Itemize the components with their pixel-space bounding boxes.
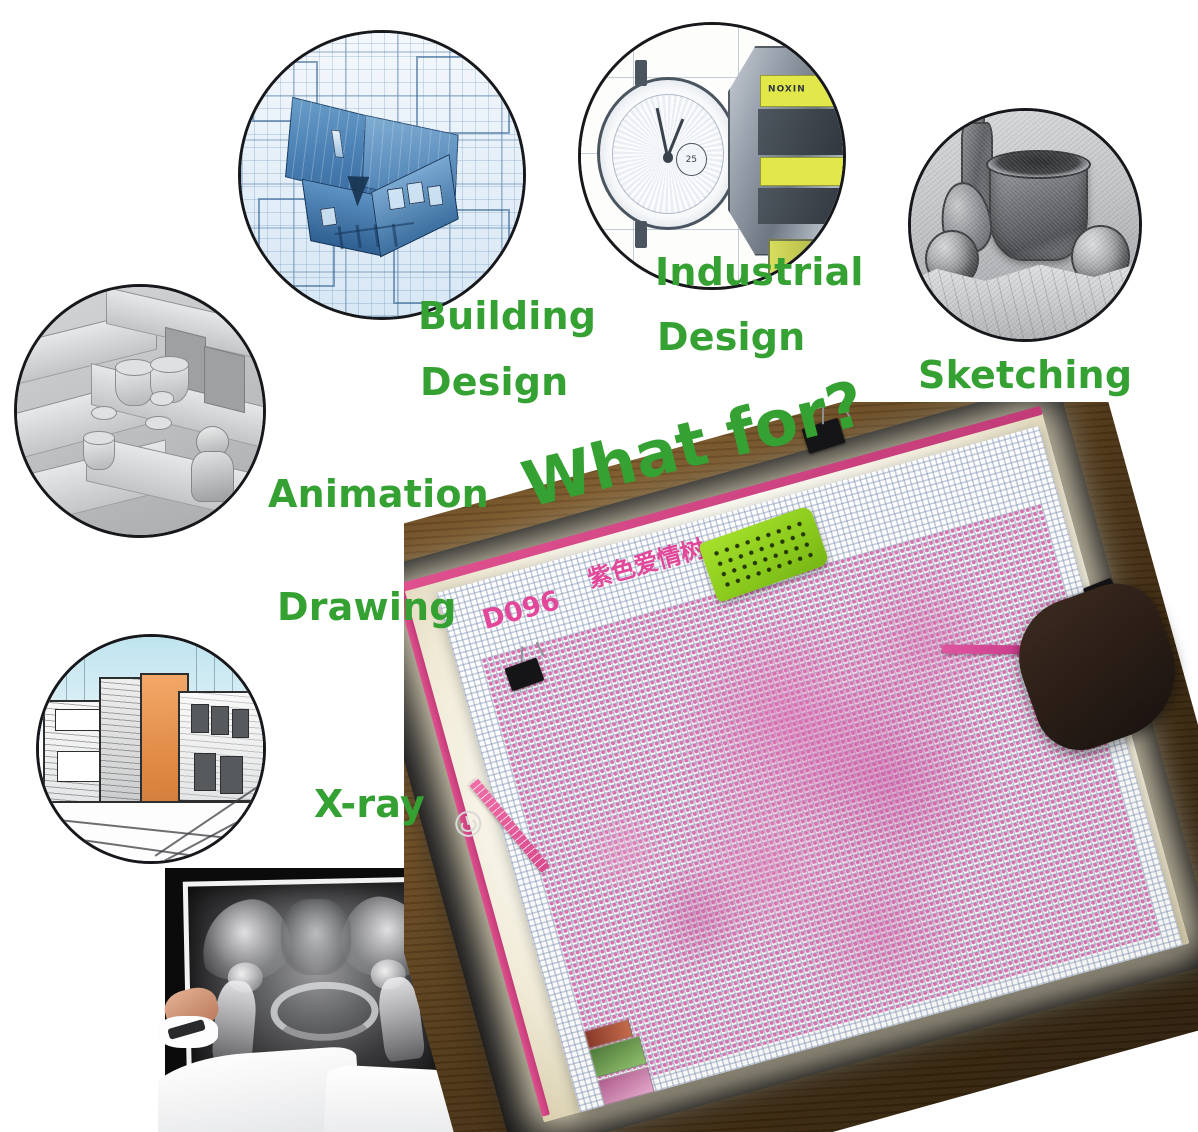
use-case-label-x-ray: X-ray — [314, 785, 425, 823]
product-photo-light-pad: D096 紫色爱情树 — [404, 402, 1198, 1132]
use-case-label-sketching: Sketching — [918, 356, 1132, 394]
use-case-photo-animation — [14, 284, 266, 538]
use-case-label-building-design-line1: Building — [418, 297, 596, 335]
use-case-label-industrial-design-line2: Design — [657, 318, 805, 356]
use-case-photo-drawing — [36, 634, 266, 864]
watch-date-window: 25 — [676, 143, 707, 176]
promo-image: 25 NIXON — [0, 0, 1198, 1132]
use-case-label-building-design-line2: Design — [420, 363, 568, 401]
use-case-label-animation: Animation — [268, 475, 489, 513]
use-case-label-industrial-design-line1: Industrial — [655, 253, 864, 291]
use-case-label-drawing: Drawing — [277, 588, 457, 626]
watch-brand-label: NIXON — [767, 82, 805, 92]
use-case-photo-building-design — [238, 30, 526, 320]
use-case-photo-sketching — [908, 108, 1142, 342]
